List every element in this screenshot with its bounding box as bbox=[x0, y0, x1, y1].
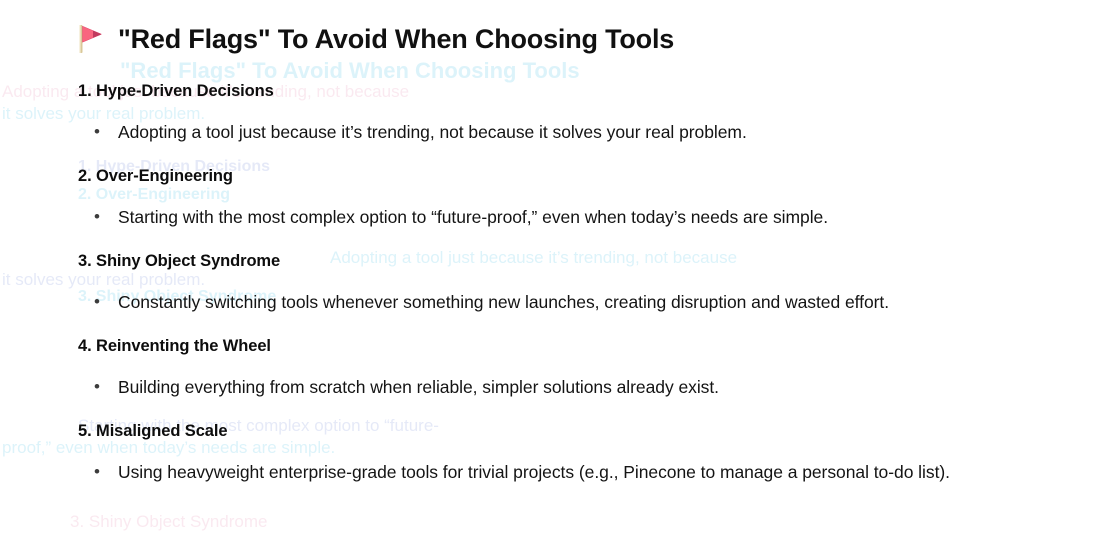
bullet-marker-icon: • bbox=[78, 288, 118, 316]
bullet-marker-icon: • bbox=[78, 458, 118, 486]
bullet-marker-icon: • bbox=[78, 373, 118, 401]
section-heading-5: 5. Misaligned Scale bbox=[78, 422, 227, 442]
bullet-text-4: Building everything from scratch when re… bbox=[118, 373, 719, 401]
bullet-item-4: •Building everything from scratch when r… bbox=[78, 373, 719, 401]
section-heading-3: 3. Shiny Object Syndrome bbox=[78, 252, 280, 272]
bullet-text-3: Constantly switching tools whenever some… bbox=[118, 288, 889, 316]
title-row: "Red Flags" To Avoid When Choosing Tools bbox=[78, 24, 674, 54]
section-heading-2: 2. Over-Engineering bbox=[78, 167, 233, 187]
bullet-text-5: Using heavyweight enterprise-grade tools… bbox=[118, 458, 950, 486]
document-content: "Red Flags" To Avoid When Choosing Tools… bbox=[0, 0, 1119, 541]
bullet-item-5: •Using heavyweight enterprise-grade tool… bbox=[78, 458, 950, 486]
bullet-marker-icon: • bbox=[78, 118, 118, 146]
bullet-item-1: •Adopting a tool just because it’s trend… bbox=[78, 118, 747, 146]
bullet-text-1: Adopting a tool just because it’s trendi… bbox=[118, 118, 747, 146]
bullet-item-3: •Constantly switching tools whenever som… bbox=[78, 288, 889, 316]
triangular-flag-icon bbox=[78, 24, 104, 54]
bullet-text-2: Starting with the most complex option to… bbox=[118, 203, 828, 231]
bullet-item-2: •Starting with the most complex option t… bbox=[78, 203, 828, 231]
bullet-marker-icon: • bbox=[78, 203, 118, 231]
page-title: "Red Flags" To Avoid When Choosing Tools bbox=[118, 26, 674, 53]
document-root: "Red Flags" To Avoid When Choosing Tools… bbox=[0, 0, 1119, 541]
section-heading-4: 4. Reinventing the Wheel bbox=[78, 337, 271, 357]
section-heading-1: 1. Hype-Driven Decisions bbox=[78, 82, 274, 102]
